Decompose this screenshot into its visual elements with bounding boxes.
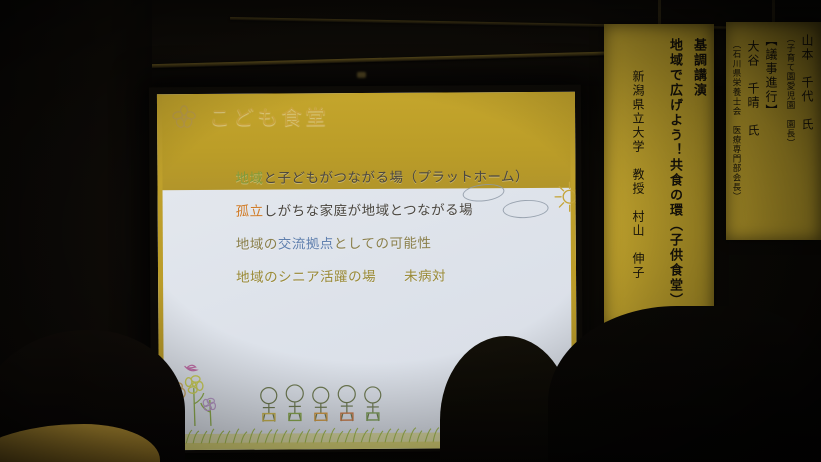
banner-line: 【議事進行】	[762, 34, 779, 118]
conference-room-photo: こども食堂 地域と子どもがつながる場（プラットホーム）孤立しがちな家庭が地域とつ…	[0, 0, 821, 462]
bullet-text-run: しがちな家庭が地域とつながる場	[264, 202, 474, 218]
bullet-text-run: 孤立	[236, 204, 264, 219]
banner-hanger-left	[658, 0, 661, 26]
banner-line: （子育て園愛児園 園長）	[785, 34, 797, 148]
flower-icon	[171, 104, 197, 130]
banner-line: （石川県栄養士会 医療専門部会長）	[731, 40, 743, 202]
slide-bullet-line: 孤立しがちな家庭が地域とつながる場	[236, 193, 530, 228]
bullet-text-run: としての可能性	[334, 236, 432, 252]
banner-primary: 基調講演 地域で広げよう！共食の環（子供食堂） 新潟県立大学 教授 村山 伸子	[604, 24, 714, 330]
banner-line: 山本 千代 氏	[798, 34, 815, 132]
sun-icon	[552, 180, 577, 214]
banner-line: 新潟県立大学 教授 村山 伸子	[629, 70, 646, 280]
banner-line: 大谷 千晴 氏	[744, 40, 761, 138]
slide-bullet-line: 地域の交流拠点としての可能性	[236, 226, 530, 261]
page-title: こども食堂	[209, 101, 329, 132]
slide-bullet-list: 地域と子どもがつながる場（プラットホーム）孤立しがちな家庭が地域とつながる場地域…	[235, 160, 529, 294]
slide-bullet-line: 地域のシニア活躍の場 未病対	[236, 259, 530, 294]
bullet-text-run: 地域のシニア活躍の場 未病対	[236, 269, 446, 285]
banner-line: 地域で広げよう！共食の環（子供食堂）	[665, 38, 684, 308]
banner-secondary: 山本 千代 氏 （子育て園愛児園 園長） 【議事進行】 大谷 千晴 氏 （石川県…	[726, 22, 821, 240]
bullet-text-run: 地域	[235, 171, 263, 186]
bullet-text-run: と子どもがつながる場（プラットホーム）	[263, 169, 529, 186]
bullet-text-run: 地域の	[236, 237, 278, 252]
banner-line: 基調講演	[689, 38, 708, 98]
bullet-text-run: 交流拠点	[278, 236, 334, 251]
slide-bullet-line: 地域と子どもがつながる場（プラットホーム）	[235, 160, 529, 195]
slide-title-row: こども食堂	[171, 101, 329, 132]
ceiling-light-spot	[357, 72, 366, 78]
